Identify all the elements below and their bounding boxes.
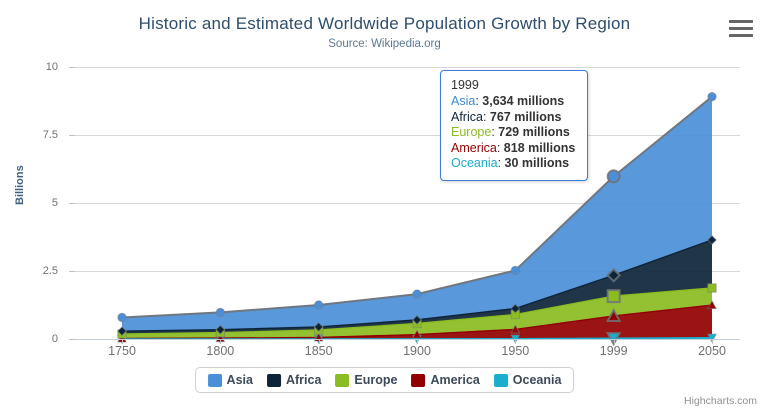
x-axis-tick-label: 2050 [698, 344, 726, 358]
tooltip-series-name: America [451, 141, 497, 155]
menu-bar-3 [729, 34, 753, 38]
plot-area [75, 67, 740, 339]
legend-item-europe[interactable]: Europe [335, 373, 397, 387]
marker-asia[interactable] [118, 313, 126, 321]
x-axis-tick-mark [515, 339, 516, 344]
marker-asia[interactable] [608, 170, 620, 182]
y-axis-tick-label: 10 [0, 61, 58, 73]
legend-swatch-asia [208, 374, 222, 387]
tooltip-series-name: Africa [451, 110, 483, 124]
x-axis-tick-mark [417, 339, 418, 344]
y-axis-title: Billions [14, 165, 26, 205]
tooltip-row-asia: Asia: 3,634 millions [451, 94, 575, 110]
series-areas [75, 67, 740, 339]
tooltip-series-value: 729 millions [498, 125, 570, 139]
legend-item-asia[interactable]: Asia [208, 373, 253, 387]
tooltip-row-oceania: Oceania: 30 millions [451, 156, 575, 172]
chart-legend[interactable]: Asia Africa Europe America Oceania [195, 367, 575, 393]
y-axis-tick-label: 5 [0, 197, 58, 209]
tooltip-row-america: America: 818 millions [451, 141, 575, 157]
tooltip-series-name: Oceania [451, 156, 498, 170]
marker-asia[interactable] [413, 290, 421, 298]
x-axis-tick-mark [220, 339, 221, 344]
y-axis-tick-label: 7.5 [0, 129, 58, 141]
x-axis-tick-label: 1800 [206, 344, 234, 358]
marker-asia[interactable] [314, 301, 322, 309]
tooltip-row-africa: Africa: 767 millions [451, 110, 575, 126]
highcharts-container: Historic and Estimated Worldwide Populat… [0, 0, 769, 416]
legend-swatch-africa [267, 374, 281, 387]
x-axis-tick-label: 1999 [600, 344, 628, 358]
marker-asia[interactable] [216, 308, 224, 316]
legend-swatch-europe [335, 374, 349, 387]
chart-subtitle: Source: Wikipedia.org [0, 38, 769, 50]
legend-label-africa: Africa [286, 373, 321, 387]
hamburger-menu-icon[interactable] [729, 16, 753, 38]
menu-bar-1 [729, 20, 753, 24]
tooltip-series-value: 767 millions [490, 110, 562, 124]
y-axis-tick-label: 2.5 [0, 265, 58, 277]
x-axis-tick-mark [122, 339, 123, 344]
tooltip-series-value: 30 millions [505, 156, 570, 170]
legend-swatch-america [411, 374, 425, 387]
tooltip-series-value: 3,634 millions [482, 94, 564, 108]
x-axis-tick-label: 1750 [108, 344, 136, 358]
tooltip: 1999 Asia: 3,634 millionsAfrica: 767 mil… [440, 70, 588, 181]
x-axis-tick-label: 1850 [305, 344, 333, 358]
tooltip-series-name: Europe [451, 125, 491, 139]
x-axis-tick-mark [712, 339, 713, 344]
marker-europe[interactable] [608, 290, 620, 302]
x-axis-tick-label: 1950 [501, 344, 529, 358]
menu-bar-2 [729, 27, 753, 31]
legend-label-asia: Asia [227, 373, 253, 387]
tooltip-rows: Asia: 3,634 millionsAfrica: 767 millions… [451, 94, 575, 172]
marker-asia[interactable] [511, 266, 519, 274]
marker-asia[interactable] [708, 92, 716, 100]
legend-label-oceania: Oceania [513, 373, 562, 387]
x-axis-line [75, 339, 740, 340]
y-axis-tick-label: 0 [0, 333, 58, 345]
marker-europe[interactable] [708, 284, 716, 292]
legend-item-africa[interactable]: Africa [267, 373, 321, 387]
legend-swatch-oceania [494, 374, 508, 387]
tooltip-header: 1999 [451, 78, 575, 92]
legend-label-europe: Europe [354, 373, 397, 387]
legend-item-america[interactable]: America [411, 373, 479, 387]
legend-label-america: America [430, 373, 479, 387]
legend-item-oceania[interactable]: Oceania [494, 373, 562, 387]
x-axis-tick-label: 1900 [403, 344, 431, 358]
tooltip-series-value: 818 millions [504, 141, 576, 155]
x-axis-tick-mark [319, 339, 320, 344]
tooltip-row-europe: Europe: 729 millions [451, 125, 575, 141]
page-title: Historic and Estimated Worldwide Populat… [0, 14, 769, 34]
x-axis-tick-mark [614, 339, 615, 344]
highcharts-credits[interactable]: Highcharts.com [684, 395, 757, 407]
tooltip-series-name: Asia [451, 94, 475, 108]
